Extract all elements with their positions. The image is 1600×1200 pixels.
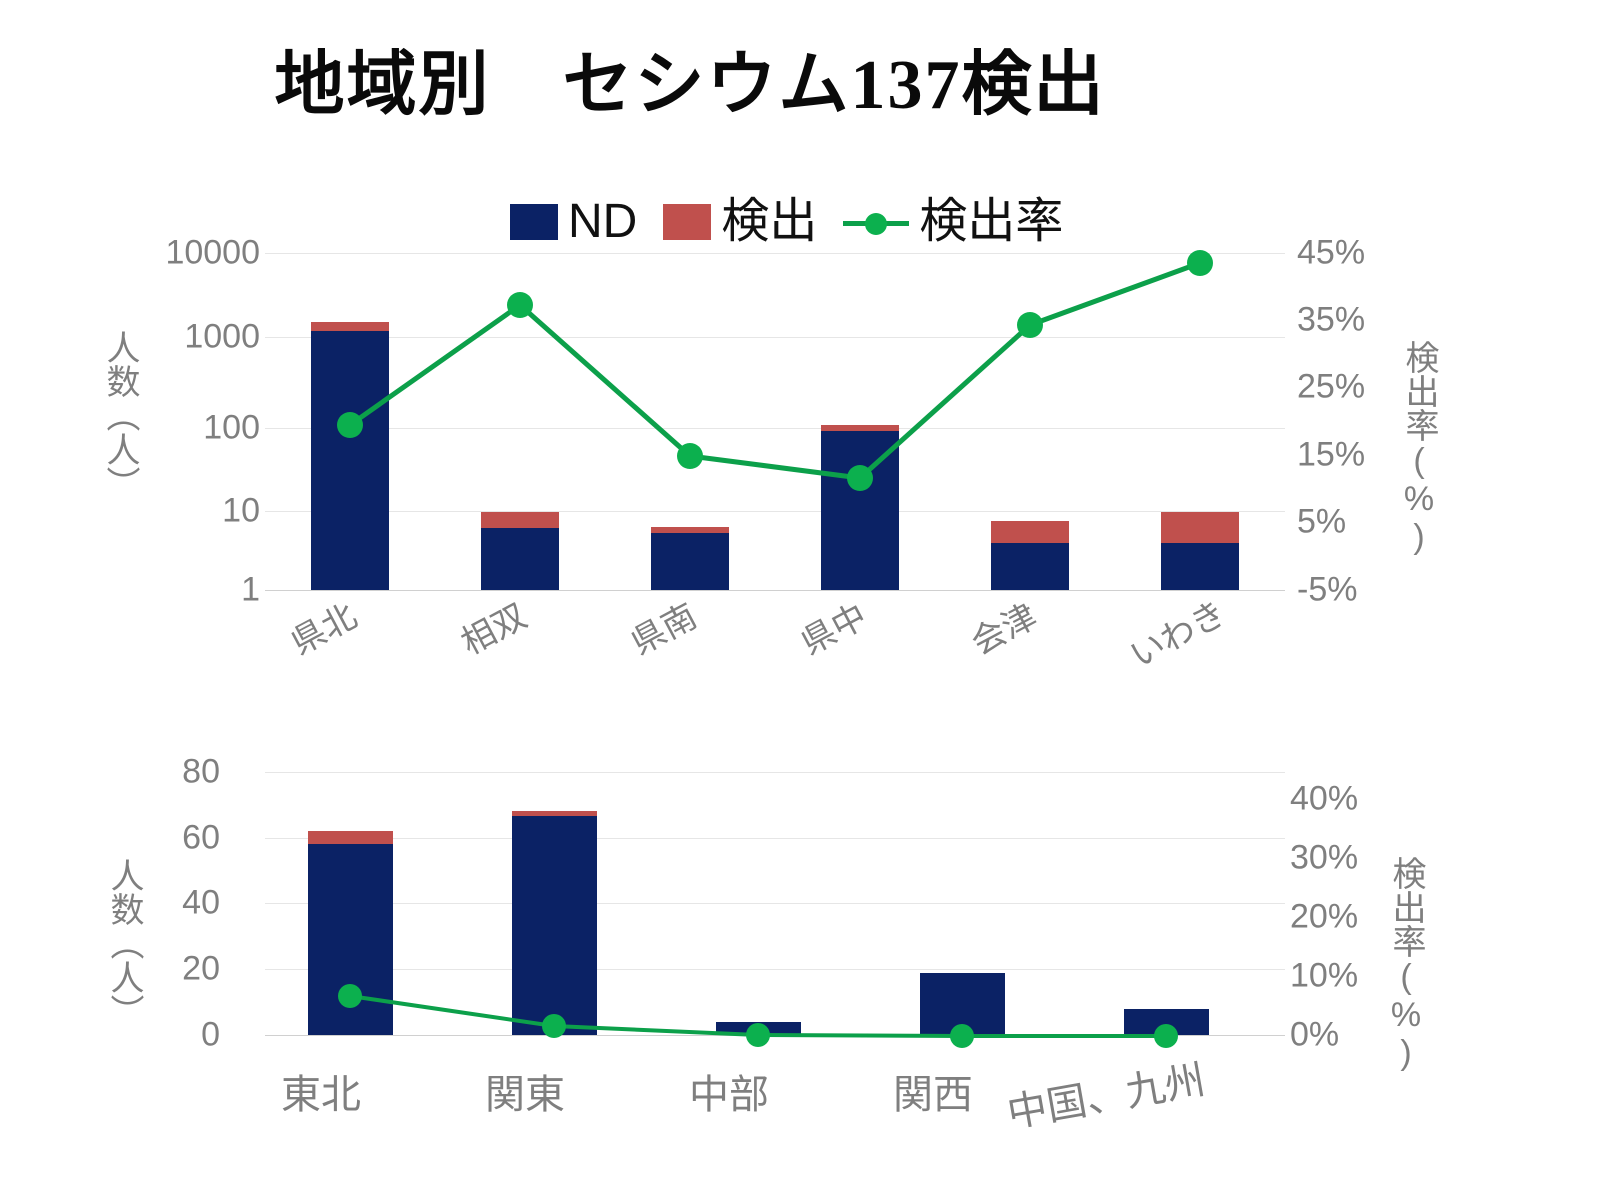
bottom-xlabel-kansai: 関西 xyxy=(893,1062,973,1120)
bottom-rate-point-chugoku-kyushu xyxy=(1154,1024,1178,1048)
chart-other-regions: 人数（人） 検出率(%) 80 60 40 20 0 40% 30% 20% 1… xyxy=(0,0,1600,1200)
bottom-xlabel-tohoku: 東北 xyxy=(281,1062,361,1120)
bottom-rate-point-kanto xyxy=(542,1014,566,1038)
bottom-xlabel-kanto: 関東 xyxy=(485,1062,565,1120)
bottom-rate-point-chubu xyxy=(746,1023,770,1047)
bottom-rate-point-kansai xyxy=(950,1024,974,1048)
bottom-xlabel-chubu: 中部 xyxy=(689,1062,769,1120)
chart-page: 地域別 セシウム137検出 ND 検出 検出率 人数（人） 検出率(%) 100… xyxy=(0,0,1600,1200)
bottom-rate-point-tohoku xyxy=(338,984,362,1008)
bottom-rate-series xyxy=(0,0,1600,1200)
